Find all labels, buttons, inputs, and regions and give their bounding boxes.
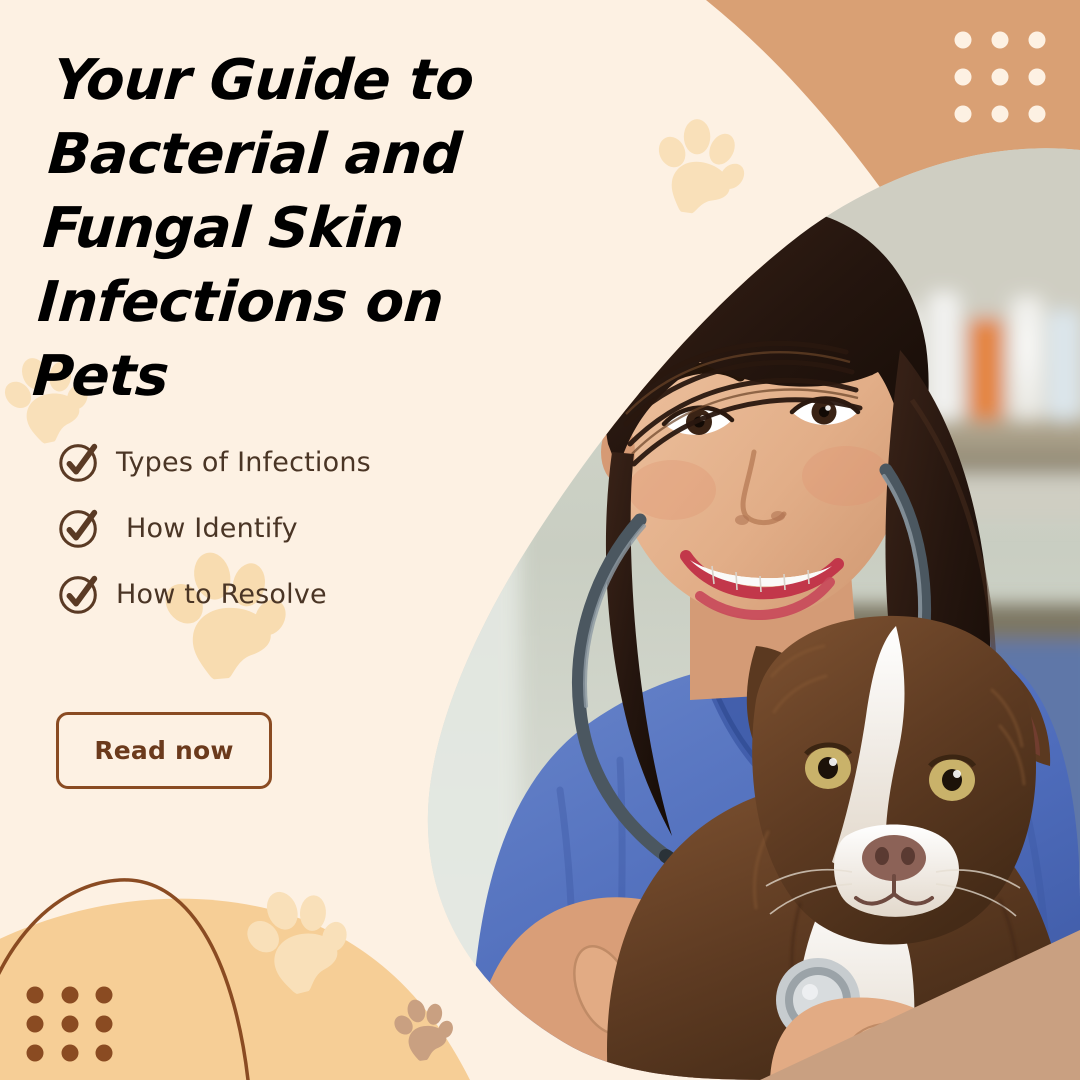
list-item-label: How to Resolve [116, 579, 327, 610]
list-item[interactable]: How Identify [56, 496, 371, 560]
headline-block: Your Guide to Bacterial and Fungal Skin … [56, 44, 576, 414]
poster-canvas: Your Guide to Bacterial and Fungal Skin … [0, 0, 1080, 1080]
list-item[interactable]: Types of Infections [56, 430, 371, 494]
tan-wedge-bottom-right [760, 930, 1080, 1080]
feature-checklist: Types of Infections How Identify How to … [56, 430, 371, 628]
circle-check-icon [56, 571, 102, 617]
list-item-label: Types of Infections [116, 447, 371, 478]
list-item[interactable]: How to Resolve [56, 562, 371, 626]
list-item-label: How Identify [116, 513, 298, 544]
circle-check-icon [56, 439, 102, 485]
page-title: Your Guide to Bacterial and Fungal Skin … [30, 44, 576, 414]
circle-check-icon [56, 505, 102, 551]
read-now-button[interactable]: Read now [56, 712, 272, 789]
